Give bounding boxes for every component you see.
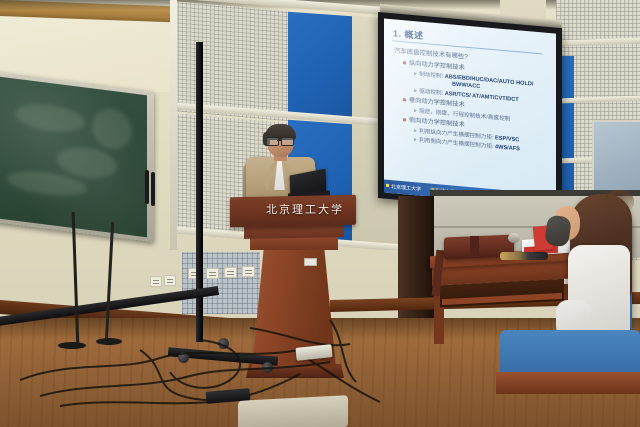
wall-outlet[interactable]	[206, 268, 219, 279]
briefcase-band	[470, 236, 479, 257]
screen-glare	[384, 19, 556, 208]
blackboard-frame	[0, 72, 154, 242]
projection-screen: 1. 概述 汽车底盘控制技术有哪些? 纵向动力学控制技术 ➤制动控制: ABS/…	[378, 12, 562, 214]
desk-small-items	[500, 252, 548, 260]
light-switch[interactable]	[150, 276, 162, 287]
eyeglasses-icon	[266, 137, 295, 144]
second-person-head	[604, 190, 634, 212]
venue-sign-text: 北京理工大学	[250, 199, 360, 221]
footer-logo-icon	[386, 184, 389, 187]
footer-left-text: 北京理工大学	[391, 183, 421, 193]
presentation-slide: 1. 概述 汽车底盘控制技术有哪些? 纵向动力学控制技术 ➤制动控制: ABS/…	[384, 19, 556, 208]
lectern-label-plate	[304, 258, 317, 266]
panel-frame-post	[170, 0, 177, 250]
briefcase-buckle	[508, 233, 520, 243]
marker-holder	[145, 170, 161, 208]
blue-wall-panel	[288, 12, 352, 120]
light-switch[interactable]	[164, 275, 176, 286]
floor-cables	[0, 310, 400, 427]
lecture-hall-photo: 1. 概述 汽车底盘控制技术有哪些? 纵向动力学控制技术 ➤制动控制: ABS/…	[0, 0, 640, 427]
chair-wood-trim	[496, 372, 640, 394]
